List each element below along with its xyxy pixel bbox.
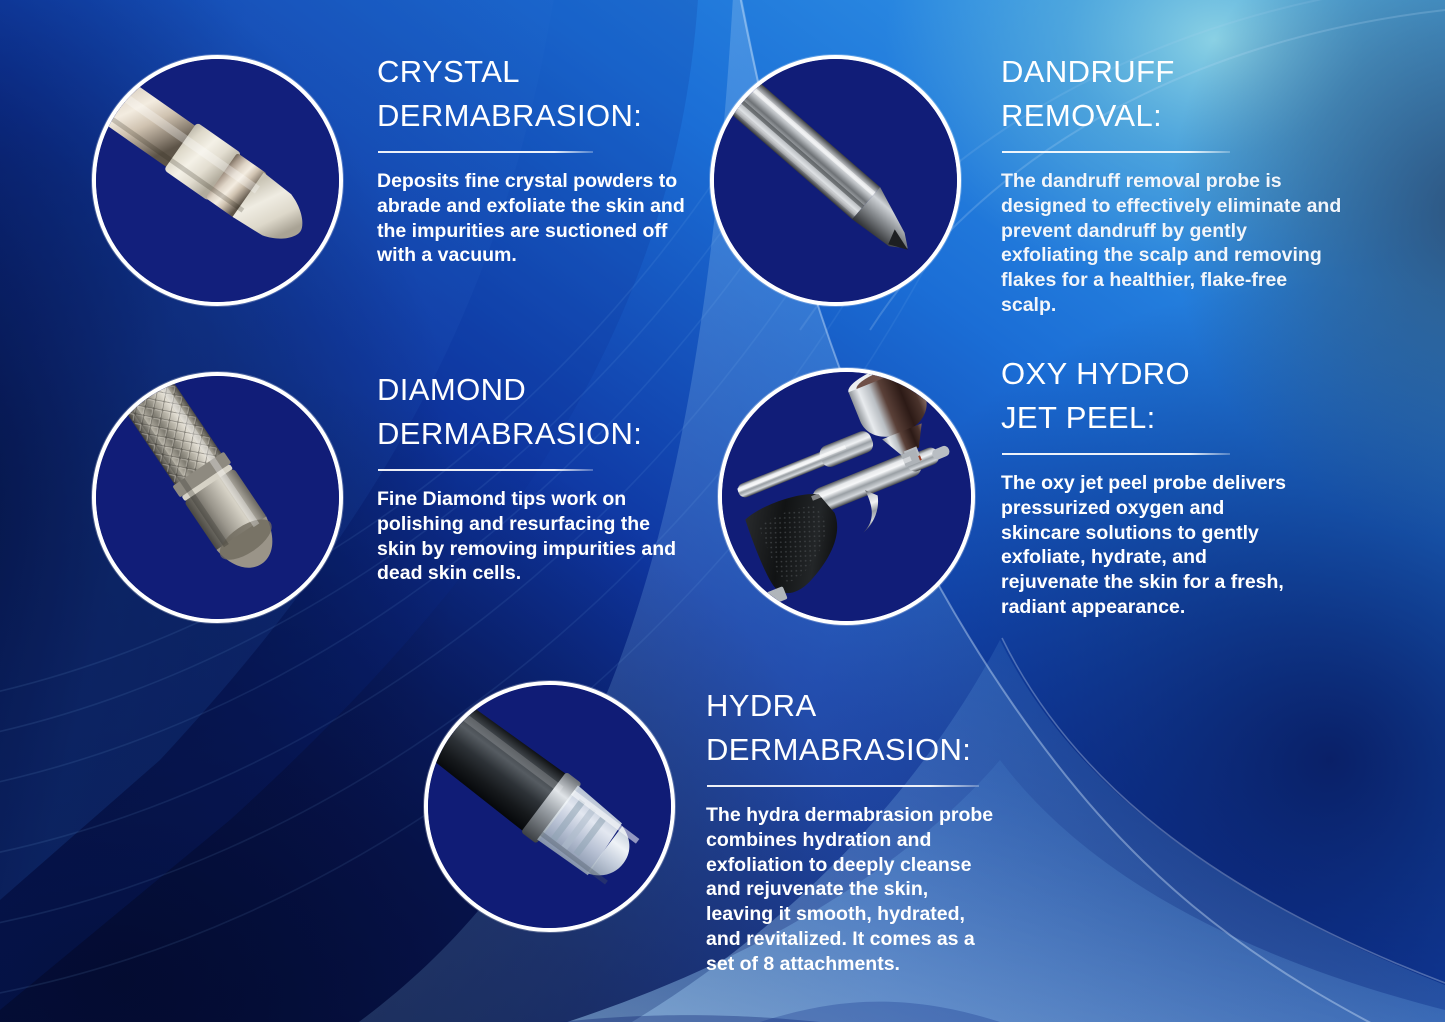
crystal-dermabrasion-probe-photo	[92, 55, 343, 306]
heading-divider	[1002, 151, 1230, 153]
oxy-hydro-jet-peel-heading: OXY HYDRO JET PEEL:	[1001, 352, 1331, 440]
dandruff-removal-text-block: DANDRUFF REMOVAL: The dandruff removal p…	[1001, 50, 1346, 318]
diamond-dermabrasion-body: Fine Diamond tips work on polishing and …	[377, 487, 687, 586]
crystal-dermabrasion-heading: CRYSTAL DERMABRASION:	[377, 50, 692, 138]
hydra-dermabrasion-heading: HYDRA DERMABRASION:	[706, 684, 1006, 772]
heading-divider	[378, 469, 593, 471]
crystal-dermabrasion-text-block: CRYSTAL DERMABRASION: Deposits fine crys…	[377, 50, 692, 268]
oxy-hydro-jet-peel-text-block: OXY HYDRO JET PEEL: The oxy jet peel pro…	[1001, 352, 1331, 620]
hydra-dermabrasion-text-block: HYDRA DERMABRASION: The hydra dermabrasi…	[706, 684, 1006, 976]
heading-divider	[378, 151, 593, 153]
diamond-dermabrasion-text-block: DIAMOND DERMABRASION: Fine Diamond tips …	[377, 368, 692, 586]
diamond-dermabrasion-heading: DIAMOND DERMABRASION:	[377, 368, 692, 456]
oxy-hydro-jet-peel-body: The oxy jet peel probe delivers pressuri…	[1001, 471, 1301, 620]
hydra-dermabrasion-body: The hydra dermabrasion probe combines hy…	[706, 803, 996, 976]
oxy-hydro-jet-peel-gun-photo	[718, 368, 975, 625]
diamond-dermabrasion-probe-photo	[92, 372, 343, 623]
heading-divider	[1002, 453, 1230, 455]
crystal-dermabrasion-body: Deposits fine crystal powders to abrade …	[377, 169, 687, 268]
dandruff-removal-body: The dandruff removal probe is designed t…	[1001, 169, 1346, 318]
hydra-dermabrasion-probe-photo	[424, 681, 675, 932]
heading-divider	[707, 785, 979, 787]
dandruff-removal-probe-photo	[710, 55, 961, 306]
dandruff-removal-heading: DANDRUFF REMOVAL:	[1001, 50, 1346, 138]
